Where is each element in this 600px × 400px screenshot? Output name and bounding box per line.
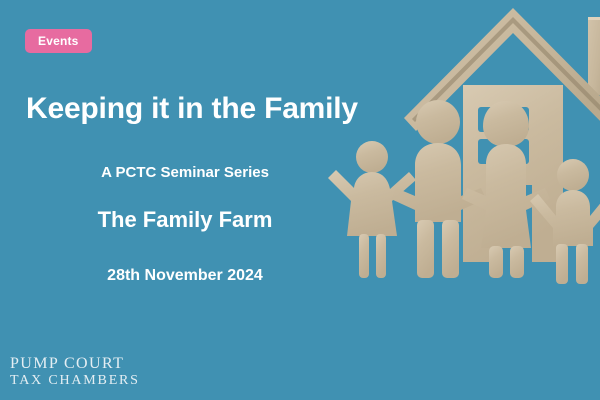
logo-line-2: TAX CHAMBERS [10, 374, 140, 388]
page-title: Keeping it in the Family [26, 92, 370, 125]
chimney-shape [588, 17, 600, 95]
topic-title: The Family Farm [0, 208, 370, 232]
pump-court-tax-chambers-logo: PUMP COURT TAX CHAMBERS [10, 356, 140, 388]
logo-line-1: PUMP COURT [10, 356, 140, 372]
events-badge[interactable]: Events [25, 29, 92, 53]
event-date: 28th November 2024 [0, 267, 370, 285]
banner-text-block: Keeping it in the Family A PCTC Seminar … [0, 92, 370, 284]
event-banner: Events Keeping it in the Family A PCTC S… [0, 0, 600, 400]
events-badge-label: Events [38, 35, 79, 47]
series-subtitle: A PCTC Seminar Series [0, 165, 370, 182]
